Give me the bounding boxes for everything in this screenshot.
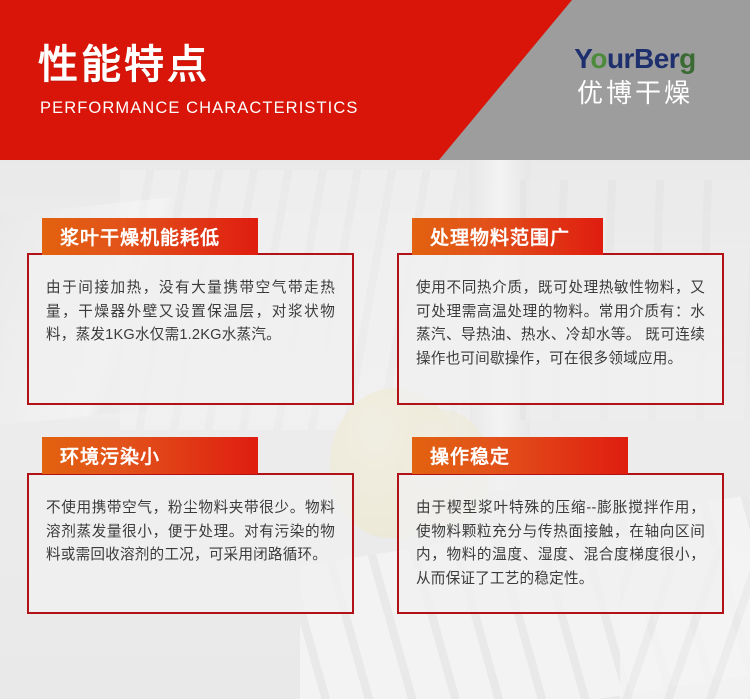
brand-logo: YourBerg 优博干燥 [550, 45, 720, 106]
logo-wordmark: YourBerg [550, 45, 720, 73]
logo-wordmark-y: Y [574, 43, 590, 74]
feature-card-3: 不使用携带空气，粉尘物料夹带很少。物料溶剂蒸发量很小，便于处理。对有污染的物料或… [27, 473, 354, 614]
page-title: 性能特点 [38, 42, 210, 88]
feature-card-3-body: 不使用携带空气，粉尘物料夹带很少。物料溶剂蒸发量很小，便于处理。对有污染的物料或… [29, 475, 352, 578]
feature-card-4: 由于楔型浆叶特殊的压缩--膨胀搅拌作用，使物料颗粒充分与传热面接触，在轴向区间内… [397, 473, 724, 614]
feature-card-3-title: 环境污染小 [42, 437, 258, 474]
feature-card-2-title: 处理物料范围广 [412, 218, 603, 255]
feature-card-1: 由于间接加热，没有大量携带空气带走热量，干燥器外壁又设置保温层，对浆状物料，蒸发… [27, 253, 354, 405]
logo-wordmark-er: er [654, 43, 679, 74]
logo-wordmark-o: o [590, 43, 607, 74]
feature-card-1-body: 由于间接加热，没有大量携带空气带走热量，干燥器外壁又设置保温层，对浆状物料，蒸发… [29, 255, 352, 358]
feature-card-2: 使用不同热介质，既可处理热敏性物料，又可处理需高温处理的物料。常用介质有：水蒸汽… [397, 253, 724, 405]
logo-company-name-cn: 优博干燥 [550, 80, 720, 106]
feature-card-4-body: 由于楔型浆叶特殊的压缩--膨胀搅拌作用，使物料颗粒充分与传热面接触，在轴向区间内… [399, 475, 722, 602]
logo-wordmark-b: B [634, 43, 654, 74]
header-banner: 性能特点 PERFORMANCE CHARACTERISTICS YourBer… [0, 0, 750, 160]
feature-card-4-title: 操作稳定 [412, 437, 628, 474]
page-subtitle: PERFORMANCE CHARACTERISTICS [40, 99, 358, 118]
logo-wordmark-ur: ur [607, 43, 634, 74]
feature-card-1-title: 浆叶干燥机能耗低 [42, 218, 258, 255]
logo-wordmark-g: g [679, 43, 696, 74]
feature-card-2-body: 使用不同热介质，既可处理热敏性物料，又可处理需高温处理的物料。常用介质有：水蒸汽… [399, 255, 722, 382]
page-root: 性能特点 PERFORMANCE CHARACTERISTICS YourBer… [0, 0, 750, 699]
